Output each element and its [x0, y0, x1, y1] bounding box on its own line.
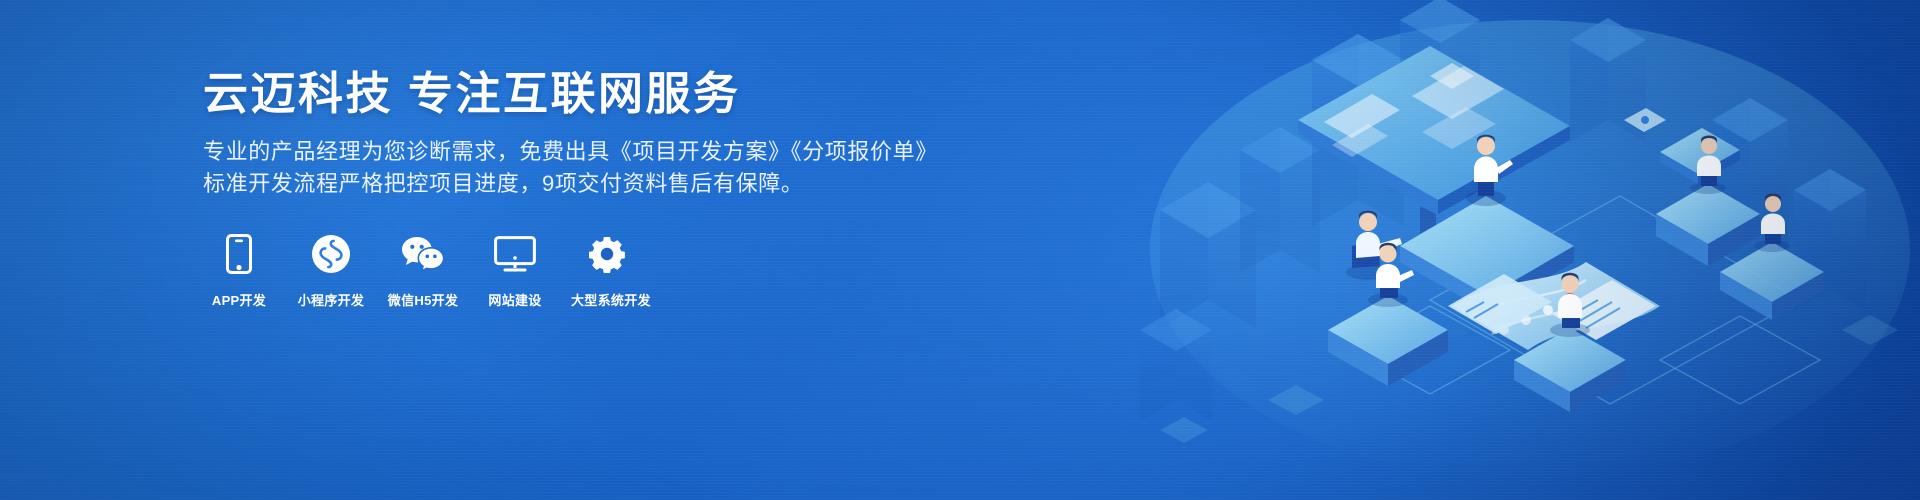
hero-banner: 云迈科技 专注互联网服务 专业的产品经理为您诊断需求，免费出具《项目开发方案》《…	[0, 0, 1920, 500]
subtitle-line-2: 标准开发流程严格把控项目进度，9项交付资料售后有保障。	[203, 168, 963, 200]
service-item-wechat[interactable]: 微信H5开发	[387, 232, 459, 309]
monitor-icon	[479, 232, 551, 276]
gear-icon	[571, 232, 643, 276]
illustration	[1100, 0, 1920, 500]
service-label: 网站建设	[479, 290, 551, 309]
service-label: APP开发	[203, 290, 275, 309]
service-item-website[interactable]: 网站建设	[479, 232, 551, 309]
service-label: 大型系统开发	[571, 290, 643, 309]
service-list: APP开发 小程序开发	[203, 232, 663, 309]
service-label: 小程序开发	[295, 290, 367, 309]
service-item-system[interactable]: 大型系统开发	[571, 232, 643, 309]
hero-copy: 云迈科技 专注互联网服务 专业的产品经理为您诊断需求，免费出具《项目开发方案》《…	[203, 66, 963, 200]
service-item-mini-program[interactable]: 小程序开发	[295, 232, 367, 309]
subtitle-line-1: 专业的产品经理为您诊断需求，免费出具《项目开发方案》《分项报价单》	[203, 136, 963, 168]
mini-program-icon	[295, 232, 367, 276]
page-title: 云迈科技 专注互联网服务	[203, 66, 963, 122]
hero-subtitle: 专业的产品经理为您诊断需求，免费出具《项目开发方案》《分项报价单》 标准开发流程…	[203, 136, 963, 200]
mobile-phone-icon	[203, 232, 275, 276]
service-label: 微信H5开发	[387, 290, 459, 309]
wechat-icon	[387, 232, 459, 276]
service-item-app[interactable]: APP开发	[203, 232, 275, 309]
